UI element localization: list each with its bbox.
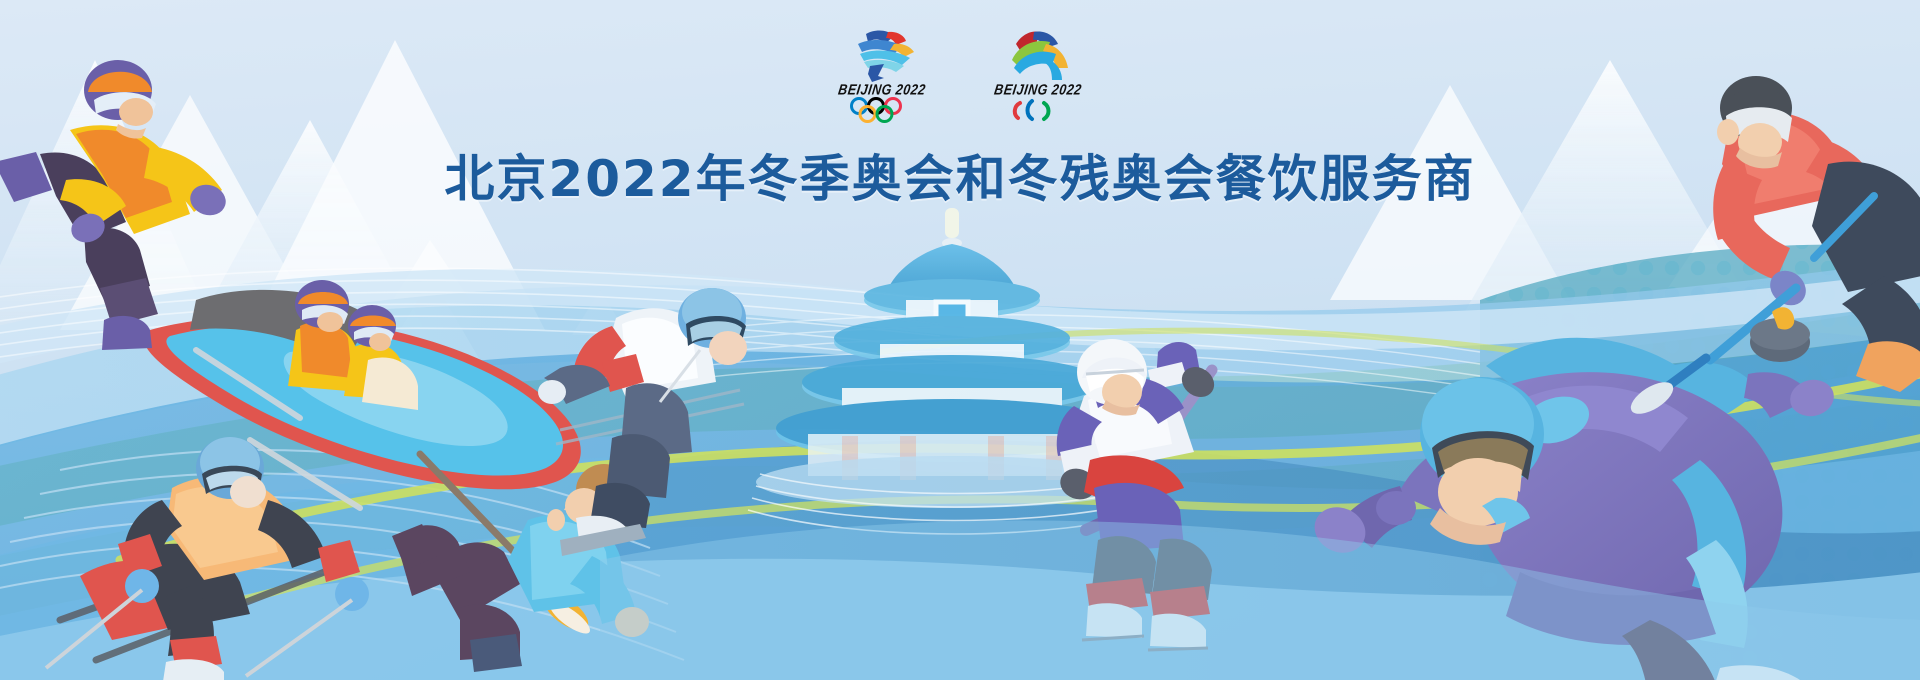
paralympic-emblem: BEIJING 2022 [983,26,1093,123]
title-container: 北京2022年冬季奥会和冬残奥会餐饮服务商 [0,118,1920,240]
olympic-emblem: BEIJING 2022 [827,26,937,123]
flight-ribbon-icon [1000,26,1076,82]
paralympic-wordmark: BEIJING 2022 [982,82,1094,99]
page-title: 北京2022年冬季奥会和冬残奥会餐饮服务商 [444,152,1475,207]
winter-dream-ribbon-icon [844,26,920,82]
olympic-banner: BEIJING 2022 BEIJING 2022 [0,0,1920,680]
olympic-wordmark: BEIJING 2022 [826,82,938,99]
emblem-row: BEIJING 2022 BEIJING 2022 [0,26,1920,123]
